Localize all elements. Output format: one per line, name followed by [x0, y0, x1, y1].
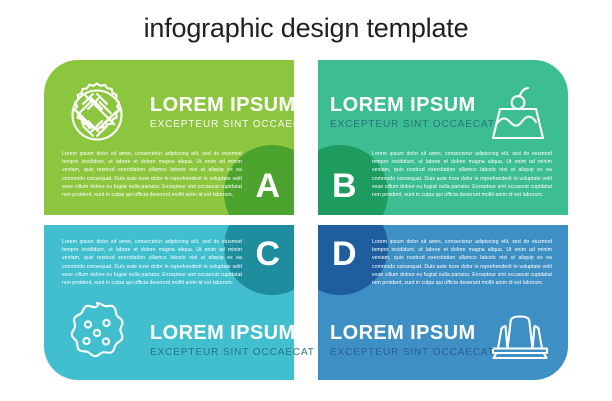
- panel-d-letter: D: [332, 237, 357, 271]
- panel-d-heading: LOREM IPSUM: [330, 322, 495, 344]
- panel-b-letter: B: [332, 169, 357, 203]
- panel-d-subheading: EXCEPTEUR SINT OCCAECAT: [330, 346, 495, 360]
- jelly-mold-icon: [487, 312, 553, 364]
- panel-d-headings: LOREM IPSUM EXCEPTEUR SINT OCCAECAT: [330, 322, 495, 360]
- panel-c-headings: LOREM IPSUM EXCEPTEUR SINT OCCAECAT: [150, 322, 315, 360]
- panel-c-subheading: EXCEPTEUR SINT OCCAECAT: [150, 346, 315, 360]
- panel-c-heading: LOREM IPSUM: [150, 322, 315, 344]
- panel-c-body: Lorem ipsum dolor sit amet, consectetur …: [62, 238, 242, 287]
- panel-a-heading: LOREM IPSUM: [150, 94, 315, 116]
- panel-b-body: Lorem ipsum dolor sit amet, consectetur …: [372, 150, 552, 199]
- infographic-canvas: infographic design template A LOREM I: [0, 0, 612, 401]
- panel-b-heading: LOREM IPSUM: [330, 94, 495, 116]
- panel-a-body: Lorem ipsum dolor sit amet, consectetur …: [62, 150, 242, 199]
- panel-d-body: Lorem ipsum dolor sit amet, consectetur …: [372, 238, 552, 287]
- pudding-cherry-icon: [487, 85, 549, 147]
- panel-b-headings: LOREM IPSUM EXCEPTEUR SINT OCCAECAT: [330, 94, 495, 132]
- panel-a-subheading: EXCEPTEUR SINT OCCAECAT: [150, 118, 315, 132]
- panel-a-letter: A: [255, 169, 280, 203]
- panel-c-letter: C: [255, 237, 280, 271]
- panel-b-subheading: EXCEPTEUR SINT OCCAECAT: [330, 118, 495, 132]
- panel-a-headings: LOREM IPSUM EXCEPTEUR SINT OCCAECAT: [150, 94, 315, 132]
- lattice-pie-icon: [63, 81, 131, 149]
- cookie-icon: [64, 301, 130, 363]
- page-title: infographic design template: [0, 12, 612, 44]
